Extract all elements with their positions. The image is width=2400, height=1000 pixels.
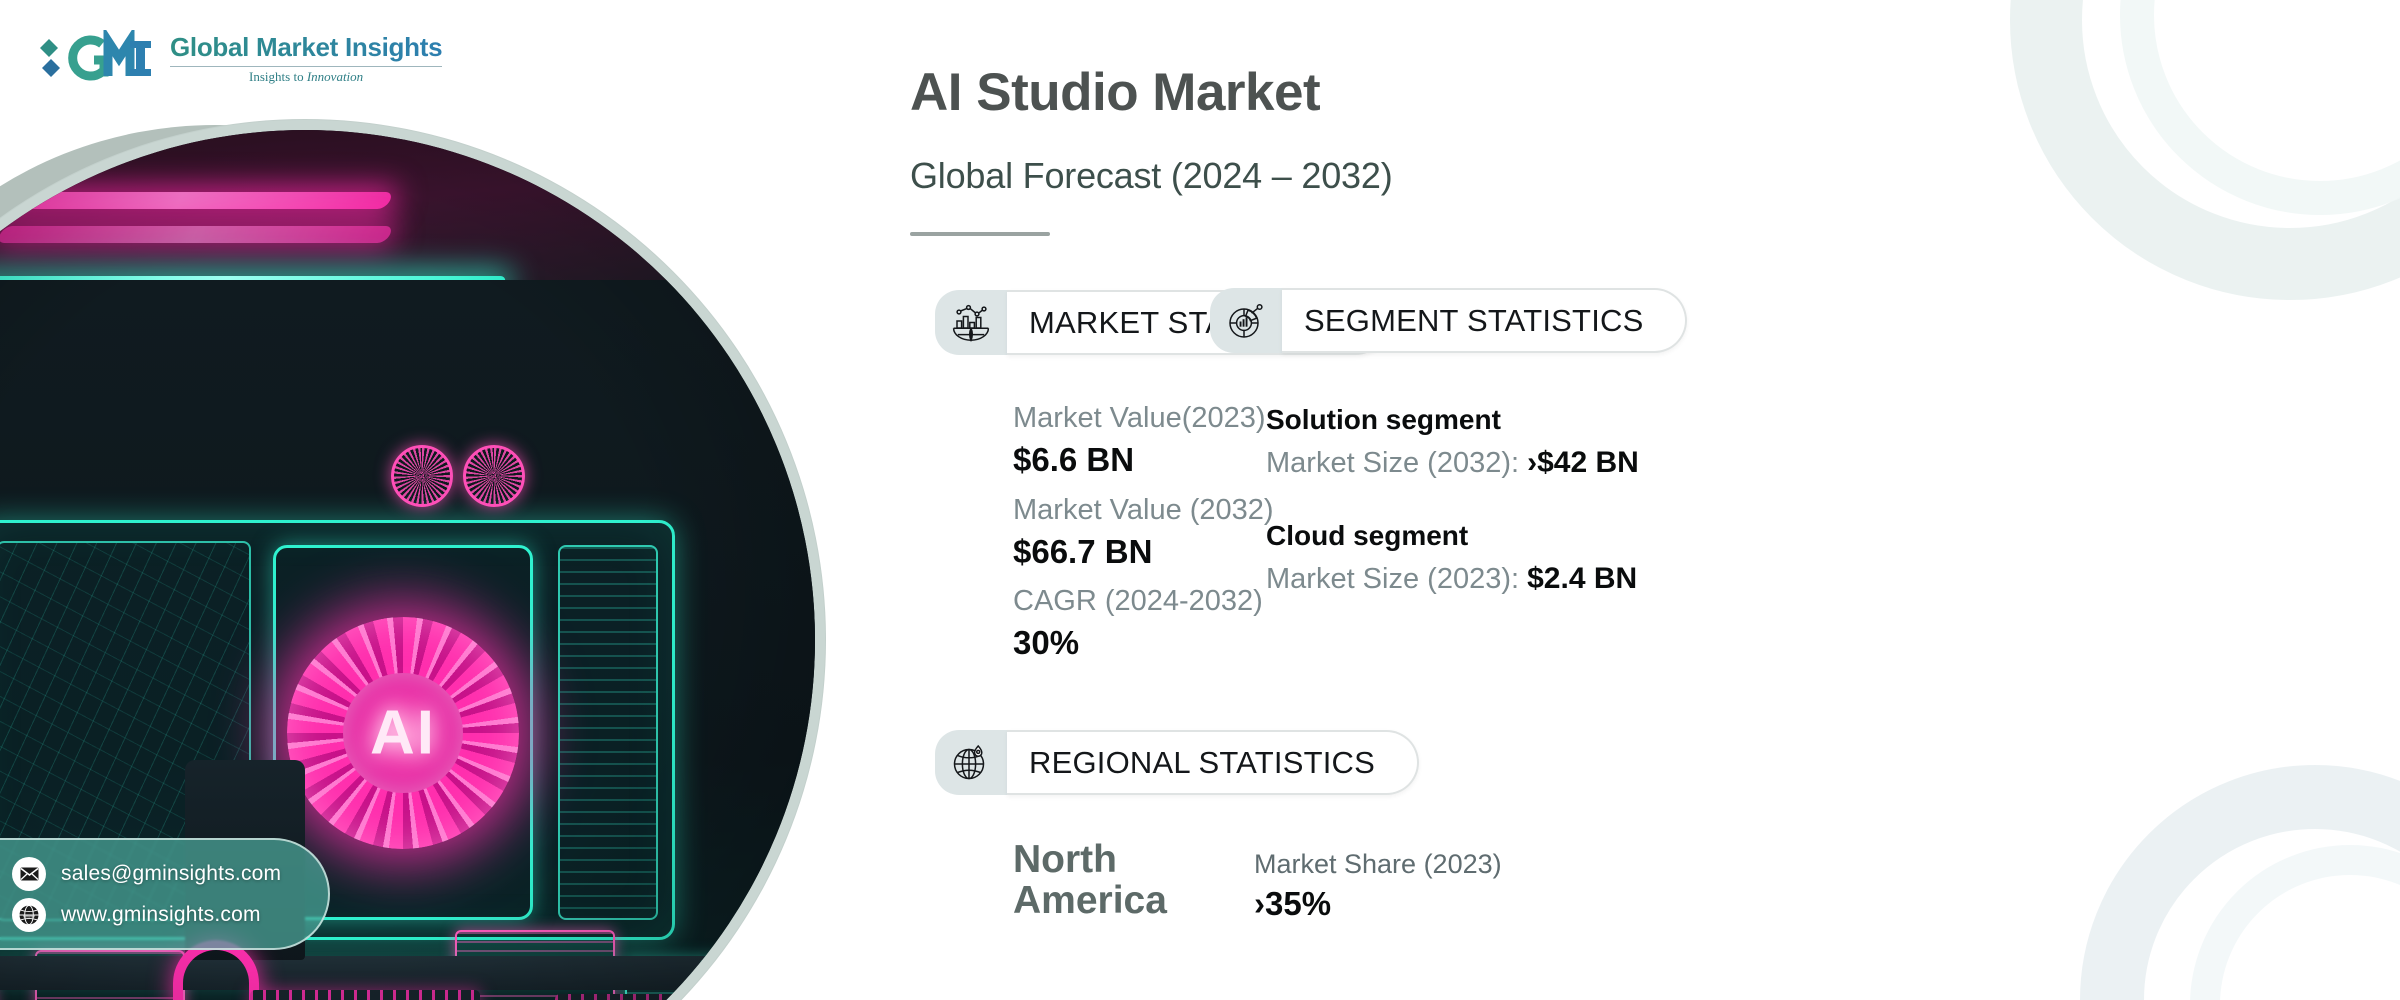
region-metric-value: ›35% (1254, 882, 1502, 927)
globe-bar-chart-icon (935, 290, 1007, 355)
market-stat-value: $66.7 BN (1013, 530, 1274, 574)
contact-email-text: sales@gminsights.com (61, 862, 281, 886)
page-subtitle: Global Forecast (2024 – 2032) (910, 155, 1393, 197)
www-globe-icon: www (12, 898, 46, 932)
market-stat-value: 30% (1013, 621, 1274, 665)
segment-block: Cloud segment Market Size (2023): $2.4 B… (1266, 516, 1639, 600)
segment-name: Solution segment (1266, 400, 1639, 441)
brand-tagline: Insights to Innovation (170, 69, 442, 85)
segment-metric-label: Market Size (2032): (1266, 447, 1527, 479)
region-metric: Market Share (2023) ›35% (1254, 840, 1502, 927)
title-underline (910, 232, 1050, 236)
content-region: AI Studio Market Global Forecast (2024 –… (900, 0, 2400, 1000)
badge-segment-statistics-label: SEGMENT STATISTICS (1282, 288, 1687, 353)
brand-divider (170, 66, 442, 67)
segment-metric-label: Market Size (2023): (1266, 563, 1527, 595)
market-stat-value: $6.6 BN (1013, 438, 1274, 482)
market-statistics-list: Market Value(2023) $6.6 BN Market Value … (1013, 398, 1274, 673)
brand-wordmark: Global Market Insights Insights to Innov… (170, 32, 442, 85)
brand-tagline-prefix: Insights to (249, 69, 307, 84)
market-stat-row: Market Value (2032) $66.7 BN (1013, 490, 1274, 574)
segment-block: Solution segment Market Size (2032): ›$4… (1266, 400, 1639, 484)
badge-segment-statistics[interactable]: SEGMENT STATISTICS (1210, 288, 1687, 353)
badge-regional-statistics-label: REGIONAL STATISTICS (1007, 730, 1419, 795)
region-name: North America (1013, 840, 1188, 922)
contact-website-row[interactable]: www www.gminsights.com (12, 898, 328, 932)
segment-statistics-list: Solution segment Market Size (2032): ›$4… (1266, 400, 1639, 632)
badge-regional-statistics[interactable]: REGIONAL STATISTICS (935, 730, 1419, 795)
envelope-icon (12, 857, 46, 891)
region-metric-label: Market Share (2023) (1254, 846, 1502, 882)
market-stat-row: CAGR (2024-2032) 30% (1013, 581, 1274, 665)
gmi-logomark (30, 30, 160, 86)
svg-text:www: www (22, 913, 35, 919)
brand-name: Global Market Insights (170, 32, 442, 63)
market-stat-label: Market Value(2023) (1013, 398, 1274, 438)
segment-name: Cloud segment (1266, 516, 1639, 557)
market-stat-row: Market Value(2023) $6.6 BN (1013, 398, 1274, 482)
segment-metric: Market Size (2023): $2.4 BN (1266, 557, 1639, 601)
hero-image-region: AI (0, 0, 960, 1000)
contact-website-text: www.gminsights.com (61, 903, 261, 927)
page-title: AI Studio Market (910, 62, 1320, 123)
regional-statistics-block: North America Market Share (2023) ›35% (1013, 840, 1502, 927)
segment-metric-value: ›$42 BN (1527, 446, 1639, 479)
market-stat-label: CAGR (2024-2032) (1013, 581, 1274, 621)
segment-metric: Market Size (2032): ›$42 BN (1266, 441, 1639, 485)
globe-pin-icon (935, 730, 1007, 795)
contact-email-row[interactable]: sales@gminsights.com (12, 857, 328, 891)
contact-panel: sales@gminsights.com www www.gminsights.… (0, 838, 330, 950)
market-stat-label: Market Value (2032) (1013, 490, 1274, 530)
brand-tagline-emphasis: Innovation (307, 69, 363, 84)
donut-chart-icon (1210, 288, 1282, 353)
segment-metric-value: $2.4 BN (1527, 562, 1637, 595)
brand-logo[interactable]: Global Market Insights Insights to Innov… (30, 30, 442, 86)
